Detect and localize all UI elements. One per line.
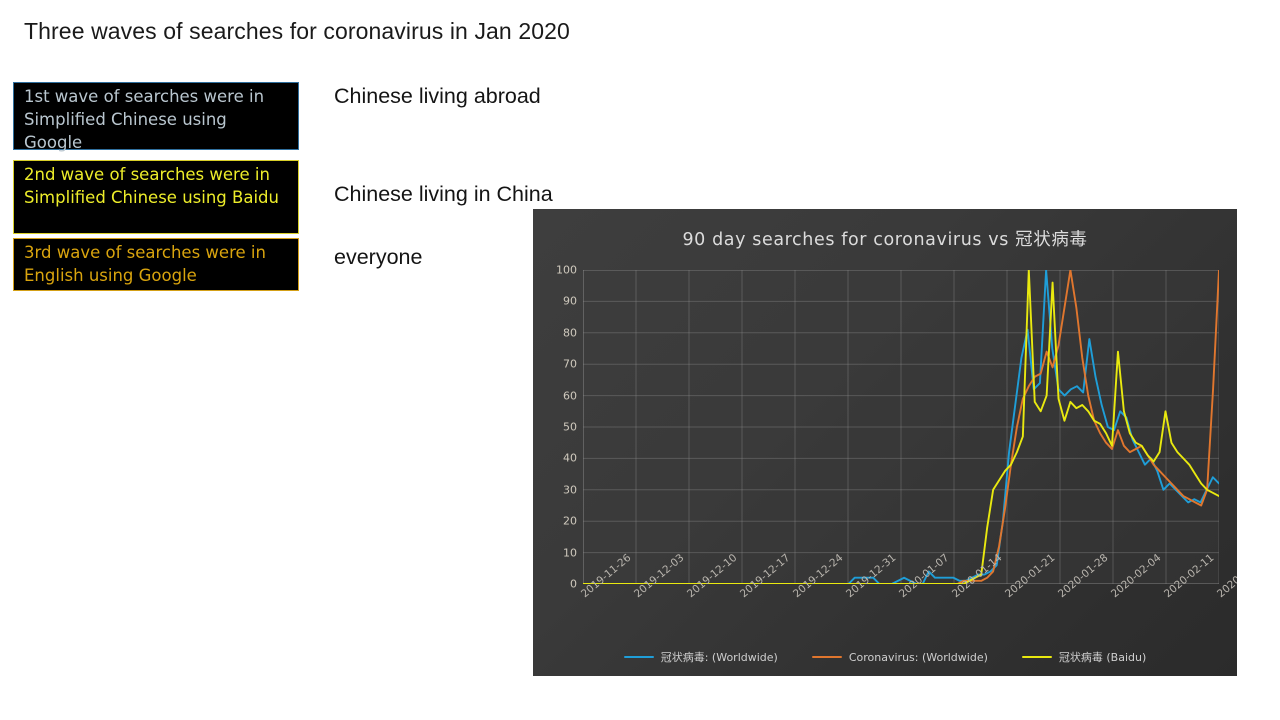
callout-wave-3: 3rd wave of searches were in English usi… xyxy=(13,238,299,291)
y-axis-tick: 40 xyxy=(543,452,577,465)
legend-color-swatch xyxy=(624,656,654,659)
google-trends-chart: 90 day searches for coronavirus vs 冠状病毒 … xyxy=(533,209,1237,676)
y-axis-tick: 0 xyxy=(543,578,577,591)
y-axis-tick: 90 xyxy=(543,295,577,308)
y-axis: 0102030405060708090100 xyxy=(533,270,577,584)
callout-wave-1: 1st wave of searches were in Simplified … xyxy=(13,82,299,150)
annotation-audience-3: everyone xyxy=(334,245,422,270)
chart-title: 90 day searches for coronavirus vs 冠状病毒 xyxy=(533,226,1237,251)
legend-label: 冠状病毒 (Baidu) xyxy=(1059,649,1146,665)
annotation-audience-1: Chinese living abroad xyxy=(334,84,541,109)
y-axis-tick: 100 xyxy=(543,264,577,277)
legend-item[interactable]: Coronavirus: (Worldwide) xyxy=(812,651,988,664)
slide-canvas: Three waves of searches for coronavirus … xyxy=(0,0,1280,720)
y-axis-tick: 70 xyxy=(543,358,577,371)
legend-item[interactable]: 冠状病毒: (Worldwide) xyxy=(624,649,778,665)
y-axis-tick: 60 xyxy=(543,389,577,402)
y-axis-tick: 30 xyxy=(543,483,577,496)
y-axis-tick: 80 xyxy=(543,326,577,339)
annotation-audience-2: Chinese living in China xyxy=(334,182,553,207)
y-axis-tick: 10 xyxy=(543,546,577,559)
callout-wave-2: 2nd wave of searches were in Simplified … xyxy=(13,160,299,234)
legend-label: 冠状病毒: (Worldwide) xyxy=(661,649,778,665)
y-axis-tick: 20 xyxy=(543,515,577,528)
y-axis-tick: 50 xyxy=(543,421,577,434)
plot-area xyxy=(583,270,1219,584)
x-axis: 2019-11-262019-12-032019-12-102019-12-17… xyxy=(583,591,1223,651)
legend-color-swatch xyxy=(812,656,842,659)
legend-item[interactable]: 冠状病毒 (Baidu) xyxy=(1022,649,1146,665)
legend-color-swatch xyxy=(1022,656,1052,659)
plot-svg xyxy=(583,270,1219,584)
page-title: Three waves of searches for coronavirus … xyxy=(24,18,570,45)
legend-label: Coronavirus: (Worldwide) xyxy=(849,651,988,664)
chart-legend: 冠状病毒: (Worldwide)Coronavirus: (Worldwide… xyxy=(533,649,1237,665)
